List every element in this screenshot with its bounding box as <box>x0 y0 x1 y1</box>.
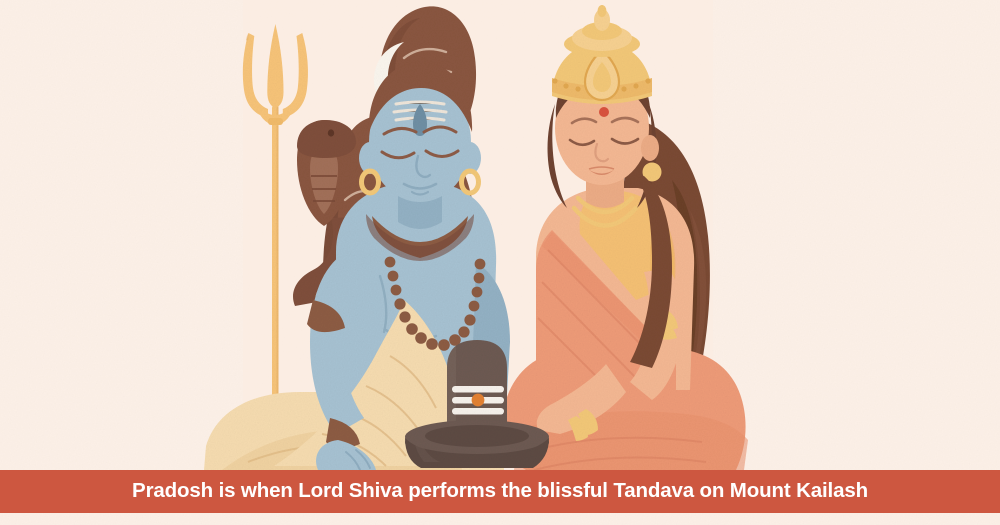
pradosh-illustration <box>0 0 1000 525</box>
caption-text: Pradosh is when Lord Shiva performs the … <box>132 481 868 502</box>
lingam-bindu <box>472 394 485 407</box>
cobra-eye <box>328 129 334 136</box>
lingam-tripundra <box>452 386 504 415</box>
caption-banner: Pradosh is when Lord Shiva performs the … <box>0 470 1000 513</box>
parvati-bindi <box>599 107 609 117</box>
illustration-canvas: Pradosh is when Lord Shiva performs the … <box>0 0 1000 525</box>
